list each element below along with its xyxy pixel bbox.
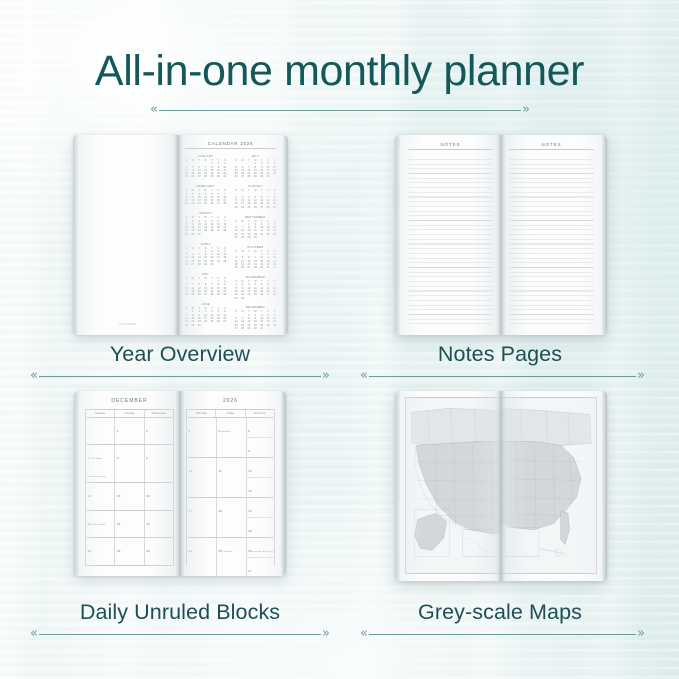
mini-month-week: 293031	[183, 233, 228, 236]
month-day-number: 19	[248, 509, 251, 513]
month-week-row: 2425Christmas26Kwanzaa / Boxing Day27	[187, 538, 274, 576]
book-spine	[175, 391, 185, 576]
mini-month: AUGUSTSMTWTFS123456789101112131415161718…	[233, 184, 278, 209]
month-week-row: 12	[86, 418, 173, 446]
month-weekend-half[interactable]: 20	[247, 518, 274, 537]
divider-year-overview: « »	[30, 370, 330, 382]
mini-month: SEPTEMBERSMTWTFS123456789101112131415161…	[233, 215, 278, 240]
mini-month-name: APRIL	[183, 242, 228, 246]
mini-month-week: 262728293031	[233, 175, 278, 178]
divider-line	[159, 110, 521, 111]
month-week-row: 34Hanukkah56	[187, 418, 274, 458]
book-page-right: CALENDAR 2026 JANUARYSMTWTFS123456789101…	[178, 135, 283, 335]
mini-month-week: 27282930	[233, 236, 278, 239]
mini-month-name: MARCH	[183, 211, 228, 215]
book-page-left: United States	[400, 391, 501, 581]
feature-daily-unruled-blocks: DECEMBER MondayTuesdayWednesday 127Pearl…	[20, 388, 340, 638]
month-day-number: 1	[117, 429, 119, 433]
month-day-cell[interactable]: 8	[115, 445, 144, 482]
mini-month-week: 2930	[233, 297, 278, 300]
month-week-row: 10111213	[187, 458, 274, 498]
notebook-notes-pages: NOTES NOTES	[395, 135, 607, 335]
month-dow-cell: Tuesday	[115, 410, 144, 417]
month-day-cell[interactable]: 2	[145, 418, 173, 445]
month-day-number: 3	[189, 429, 191, 433]
book-page-right: 2026 ThursdayFridaySat & Sun 34Hanukkah5…	[180, 391, 281, 576]
chevron-right-icon: »	[522, 104, 530, 116]
month-day-note: Pearl Harbor Remembrance Day	[88, 458, 106, 478]
book-cover-edge-right	[602, 135, 607, 335]
month-weekend-cell[interactable]: 26Kwanzaa / Boxing Day27	[247, 538, 274, 576]
month-weekend-half[interactable]: 5	[247, 418, 274, 438]
month-day-number: 12	[248, 469, 251, 473]
month-day-number: 17	[189, 509, 192, 513]
month-day-number: 13	[248, 489, 251, 493]
calendar-column-right: JULYSMTWTFS12345678910111213141516171819…	[233, 154, 278, 327]
mini-month-name: OCTOBER	[233, 245, 278, 249]
month-weekend-cell[interactable]: 1213	[247, 458, 274, 497]
mini-month-name: SEPTEMBER	[233, 215, 278, 219]
mini-month-week: 24252627282930	[183, 293, 228, 296]
month-day-note: Winter Solstice	[92, 524, 106, 526]
month-day-cell[interactable]: 30	[145, 538, 173, 565]
divider-line	[39, 376, 321, 377]
month-year: 2026	[188, 398, 273, 404]
chevron-left-icon: «	[360, 628, 368, 640]
month-weeks-left: 127Pearl Harbor Remembrance Day891415162…	[86, 418, 173, 566]
mini-month-week: 2728293031	[233, 327, 278, 330]
calendar-year-header: CALENDAR 2026	[185, 141, 275, 149]
mini-month: OCTOBERSMTWTFS12345678910111213141516171…	[233, 245, 278, 270]
month-day-number: 23	[146, 522, 149, 526]
month-dow-cell: Sat & Sun	[246, 410, 274, 417]
mini-month-name: AUGUST	[233, 184, 278, 188]
mini-month-week: 282930	[183, 324, 228, 327]
month-day-cell[interactable]: 25Christmas	[217, 538, 247, 576]
month-dow-row-right: ThursdayFridaySat & Sun	[187, 410, 274, 418]
notebook-map: United States	[395, 391, 607, 581]
mini-month: APRILSMTWTFS1234567891011121314151617181…	[183, 242, 228, 267]
month-day-number: 14	[88, 494, 91, 498]
month-day-number: 28	[88, 549, 91, 553]
month-day-cell[interactable]	[86, 418, 115, 445]
month-day-number: 29	[117, 549, 120, 553]
month-day-number: 16	[146, 494, 149, 498]
month-weekend-half[interactable]: 19	[247, 498, 274, 518]
month-dow-cell: Friday	[216, 410, 245, 417]
mini-month-name: JULY	[233, 154, 278, 158]
mini-month-name: JUNE	[183, 302, 228, 306]
book-page-left: NOTES	[400, 135, 501, 335]
caption-grey-scale-maps: Grey-scale Maps	[340, 600, 660, 625]
month-dow-cell: Monday	[86, 410, 115, 417]
chevron-left-icon: «	[360, 370, 368, 382]
month-weekend-cell[interactable]: 56	[247, 418, 274, 457]
month-dow-cell: Wednesday	[145, 410, 173, 417]
mini-month: JULYSMTWTFS12345678910111213141516171819…	[233, 154, 278, 179]
feature-notes-pages: NOTES NOTES Notes Pages « »	[340, 130, 660, 380]
caption-notes-pages: Notes Pages	[340, 342, 660, 367]
month-day-number: 4	[218, 429, 220, 433]
mini-month: DECEMBERSMTWTFS1234567891011121314151617…	[233, 305, 278, 330]
month-day-cell[interactable]: 24	[187, 538, 217, 576]
month-day-number: 21	[88, 522, 91, 526]
month-name: DECEMBER	[87, 398, 172, 404]
divider-daily-unruled-blocks: « »	[30, 628, 330, 640]
mini-month: FEBRUARYSMTWTFS1234567891011121314151617…	[183, 184, 228, 205]
month-day-number: 9	[146, 456, 148, 460]
month-dow-row-left: MondayTuesdayWednesday	[86, 410, 173, 418]
month-day-note: Hanukkah	[221, 431, 230, 433]
month-week-row: 21Winter Solstice2223	[86, 511, 173, 539]
month-weekend-half[interactable]: 26Kwanzaa / Boxing Day	[247, 538, 274, 558]
month-day-cell[interactable]: 28	[86, 538, 115, 565]
chevron-left-icon: «	[150, 104, 158, 116]
mini-month-name: FEBRUARY	[183, 184, 228, 188]
month-day-cell[interactable]: 15	[115, 483, 144, 510]
month-day-cell[interactable]: 17	[187, 498, 217, 537]
page-title: All-in-one monthly planner	[0, 47, 679, 96]
feature-grey-scale-maps: United States	[340, 388, 660, 638]
chevron-right-icon: »	[322, 370, 330, 382]
mini-month-week: 22232425262728	[183, 202, 228, 205]
mini-month-name: MAY	[183, 272, 228, 276]
caption-daily-unruled-blocks: Daily Unruled Blocks	[20, 600, 340, 625]
month-day-cell[interactable]: 21Winter Solstice	[86, 511, 115, 538]
book-spine	[496, 135, 506, 335]
map-graphic-right	[501, 398, 596, 573]
month-weekend-half[interactable]: 13	[247, 478, 274, 497]
month-day-number: 18	[218, 509, 221, 513]
divider-line	[369, 634, 636, 635]
month-week-row: 282930	[86, 538, 173, 566]
chevron-right-icon: »	[322, 628, 330, 640]
notes-header-right: NOTES	[509, 142, 594, 150]
mini-month-week: 2627282930	[183, 263, 228, 266]
month-week-row: 17181920	[187, 498, 274, 538]
month-weekend-half[interactable]: 12	[247, 458, 274, 478]
mini-month: JANUARYSMTWTFS12345678910111213141516171…	[183, 154, 228, 179]
mini-month: MAYSMTWTFS123456789101112131415161718192…	[183, 272, 228, 297]
mini-month: NOVEMBERSMTWTFS1234567891011121314151617…	[233, 275, 278, 300]
month-day-cell[interactable]: 18	[217, 498, 247, 537]
mini-month-week: 25262728293031	[233, 266, 278, 269]
mini-month-week: 25262728293031	[183, 175, 228, 178]
month-day-number: 15	[117, 494, 120, 498]
month-day-number: 20	[248, 529, 251, 533]
month-day-number: 8	[117, 456, 119, 460]
map-graphic-left	[406, 398, 501, 573]
month-dow-cell: Thursday	[187, 410, 216, 417]
map-frame-left: United States	[405, 397, 501, 574]
book-cover-edge-right	[602, 391, 607, 581]
mini-month: JUNESMTWTFS12345678910111213141516171819…	[183, 302, 228, 327]
book-cover-edge-right	[283, 135, 288, 335]
divider-grey-scale-maps: « »	[360, 628, 645, 640]
month-day-number: 22	[117, 522, 120, 526]
notes-ruled-lines-left	[408, 155, 493, 326]
month-day-cell[interactable]: 9	[145, 445, 173, 482]
chevron-left-icon: «	[30, 370, 38, 382]
month-weeks-right: 34Hanukkah5610111213171819202425Christma…	[187, 418, 274, 576]
notes-ruled-lines-right	[509, 155, 594, 326]
feature-year-overview: PLANNER CALENDAR 2026 JANUARYSMTWTFS1234…	[20, 130, 340, 380]
month-day-cell[interactable]: 1	[115, 418, 144, 445]
month-day-number: 6	[248, 449, 250, 453]
book-page-right	[501, 391, 602, 581]
month-weekend-cell[interactable]: 1920	[247, 498, 274, 537]
month-day-number: 5	[248, 429, 250, 433]
month-week-row: 141516	[86, 483, 173, 511]
month-day-cell[interactable]: 4Hanukkah	[217, 418, 247, 457]
book-page-right: NOTES	[501, 135, 602, 335]
month-weekend-half[interactable]: 6	[247, 438, 274, 457]
month-day-note: Kwanzaa / Boxing Day	[253, 551, 274, 553]
chevron-right-icon: »	[637, 370, 645, 382]
mini-month-name: NOVEMBER	[233, 275, 278, 279]
month-day-number: 24	[189, 549, 192, 553]
month-day-cell[interactable]: 7Pearl Harbor Remembrance Day	[86, 445, 115, 482]
book-spine	[173, 135, 183, 335]
month-day-cell[interactable]: 23	[145, 511, 173, 538]
month-day-cell[interactable]: 14	[86, 483, 115, 510]
month-day-cell[interactable]: 10	[187, 458, 217, 497]
month-day-cell[interactable]: 11	[217, 458, 247, 497]
brand-mark: PLANNER	[78, 322, 178, 326]
month-grid-left: MondayTuesdayWednesday 127Pearl Harbor R…	[85, 409, 174, 566]
calendar-column-left: JANUARYSMTWTFS12345678910111213141516171…	[183, 154, 228, 327]
month-week-row: 7Pearl Harbor Remembrance Day89	[86, 445, 173, 483]
calendar-month-columns: JANUARYSMTWTFS12345678910111213141516171…	[183, 154, 278, 327]
month-day-number: 2	[146, 429, 148, 433]
mini-month-week: 23242526272829	[233, 206, 278, 209]
notes-header-left: NOTES	[408, 142, 493, 150]
map-frame-right	[501, 397, 597, 574]
month-grid-right: ThursdayFridaySat & Sun 34Hanukkah561011…	[186, 409, 275, 566]
month-day-cell[interactable]: 3	[187, 418, 217, 457]
month-day-number: 26	[248, 549, 251, 553]
book-cover-edge-right	[281, 391, 286, 576]
book-spine	[496, 391, 506, 581]
month-day-number: 11	[218, 469, 221, 473]
month-day-cell[interactable]: 22	[115, 511, 144, 538]
chevron-left-icon: «	[30, 628, 38, 640]
month-day-number: 30	[146, 549, 149, 553]
chevron-right-icon: »	[637, 628, 645, 640]
title-divider: « »	[150, 104, 530, 116]
mini-month-name: DECEMBER	[233, 305, 278, 309]
divider-notes-pages: « »	[360, 370, 645, 382]
month-day-cell[interactable]: 16	[145, 483, 173, 510]
month-day-number: 10	[189, 469, 192, 473]
month-weekend-half[interactable]: 27	[247, 558, 274, 576]
month-day-number: 25	[218, 549, 221, 553]
divider-line	[39, 634, 321, 635]
month-day-note: Christmas	[223, 551, 232, 553]
month-day-number: 27	[248, 569, 251, 573]
poster: All-in-one monthly planner « » PLANNER C…	[0, 0, 679, 679]
notebook-month-planner: DECEMBER MondayTuesdayWednesday 127Pearl…	[74, 391, 286, 576]
mini-month: MARCHSMTWTFS1234567891011121314151617181…	[183, 211, 228, 236]
month-day-cell[interactable]: 29	[115, 538, 144, 565]
book-page-left: DECEMBER MondayTuesdayWednesday 127Pearl…	[79, 391, 180, 576]
notebook-year-overview: PLANNER CALENDAR 2026 JANUARYSMTWTFS1234…	[73, 135, 288, 335]
book-page-left: PLANNER	[78, 135, 178, 335]
divider-line	[369, 376, 636, 377]
caption-year-overview: Year Overview	[20, 342, 340, 367]
mini-month-name: JANUARY	[183, 154, 228, 158]
